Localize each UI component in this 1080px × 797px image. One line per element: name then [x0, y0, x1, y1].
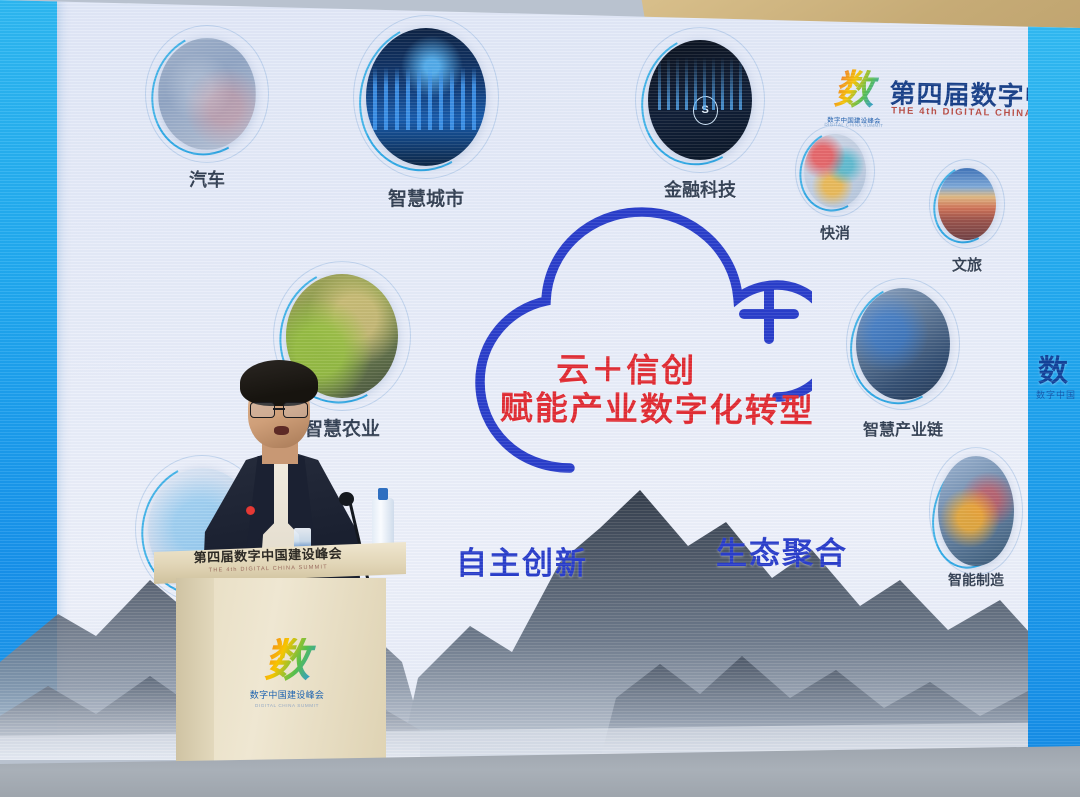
bubble-image	[158, 38, 256, 150]
bubble-image	[366, 28, 486, 166]
bubble-fmcg[interactable]: 快消	[804, 134, 866, 208]
eyeglasses-icon	[250, 402, 308, 416]
slogan-line-2: 赋能产业数字化转型	[500, 389, 815, 431]
lapel-pin-icon	[246, 506, 255, 515]
bubble-automotive[interactable]: 汽车	[158, 38, 256, 150]
podium-sign-cn: 第四届数字中国建设峰会	[178, 542, 358, 566]
bottle-cap	[378, 488, 388, 500]
bubble-label: 金融科技	[664, 176, 736, 202]
stage-photo: 云＋信创 赋能产业数字化转型 自主创新 生态聚合 汽车 智慧城市 S 金融科技	[0, 0, 1080, 797]
podium-logo-sub-en: DIGITAL CHINA SUMMIT	[244, 703, 330, 708]
bubble-label: 快消	[820, 222, 850, 243]
bubble-smart-city[interactable]: 智慧城市	[366, 28, 486, 166]
summit-logo-mark: 数	[825, 64, 882, 121]
right-panel-subtitle: 数字中国	[1036, 388, 1076, 401]
bubble-intelligent-manufacturing[interactable]: 智能制造	[938, 456, 1014, 566]
bubble-image	[938, 168, 996, 240]
podium-logo-sub-cn: 数字中国建设峰会	[244, 688, 330, 701]
speaker-hair	[240, 360, 318, 406]
center-slogan: 云＋信创 赋能产业数字化转型	[556, 351, 816, 432]
bubble-image	[856, 288, 950, 400]
slogan-line-1: 云＋信创	[556, 351, 815, 393]
blue-slogan-independent-innovation: 自主创新	[456, 538, 588, 583]
right-panel-glyph: 数	[1038, 346, 1068, 390]
bubble-smart-industry-chain[interactable]: 智慧产业链	[856, 288, 950, 400]
bubble-label: 智慧城市	[388, 184, 464, 211]
plus-sign-icon	[744, 289, 794, 339]
bubble-label: 智能制造	[948, 570, 1004, 590]
bubble-image	[804, 134, 866, 208]
water-bottle	[372, 488, 394, 550]
bubble-image: S	[648, 40, 752, 160]
bubble-label: 汽车	[189, 166, 225, 192]
dollar-coin-icon: S	[693, 96, 718, 124]
podium-sign: 第四届数字中国建设峰会 THE 4th DIGITAL CHINA SUMMIT	[178, 542, 359, 574]
bubble-image	[938, 456, 1014, 566]
bubble-label: 智慧产业链	[863, 416, 943, 440]
bubble-label: 文旅	[952, 254, 982, 275]
bubble-fintech[interactable]: S 金融科技	[648, 40, 752, 160]
blue-slogan-ecosystem-convergence: 生态聚合	[716, 528, 848, 573]
speaker-mouth	[274, 426, 289, 435]
screen-right-blue-panel: 数 数字中国	[1028, 16, 1080, 760]
bubble-culture-tourism[interactable]: 文旅	[938, 168, 996, 240]
podium-logo-mark: 数	[244, 638, 330, 684]
podium-logo: 数 数字中国建设峰会 DIGITAL CHINA SUMMIT	[244, 638, 330, 708]
microphone-icon	[339, 492, 354, 506]
